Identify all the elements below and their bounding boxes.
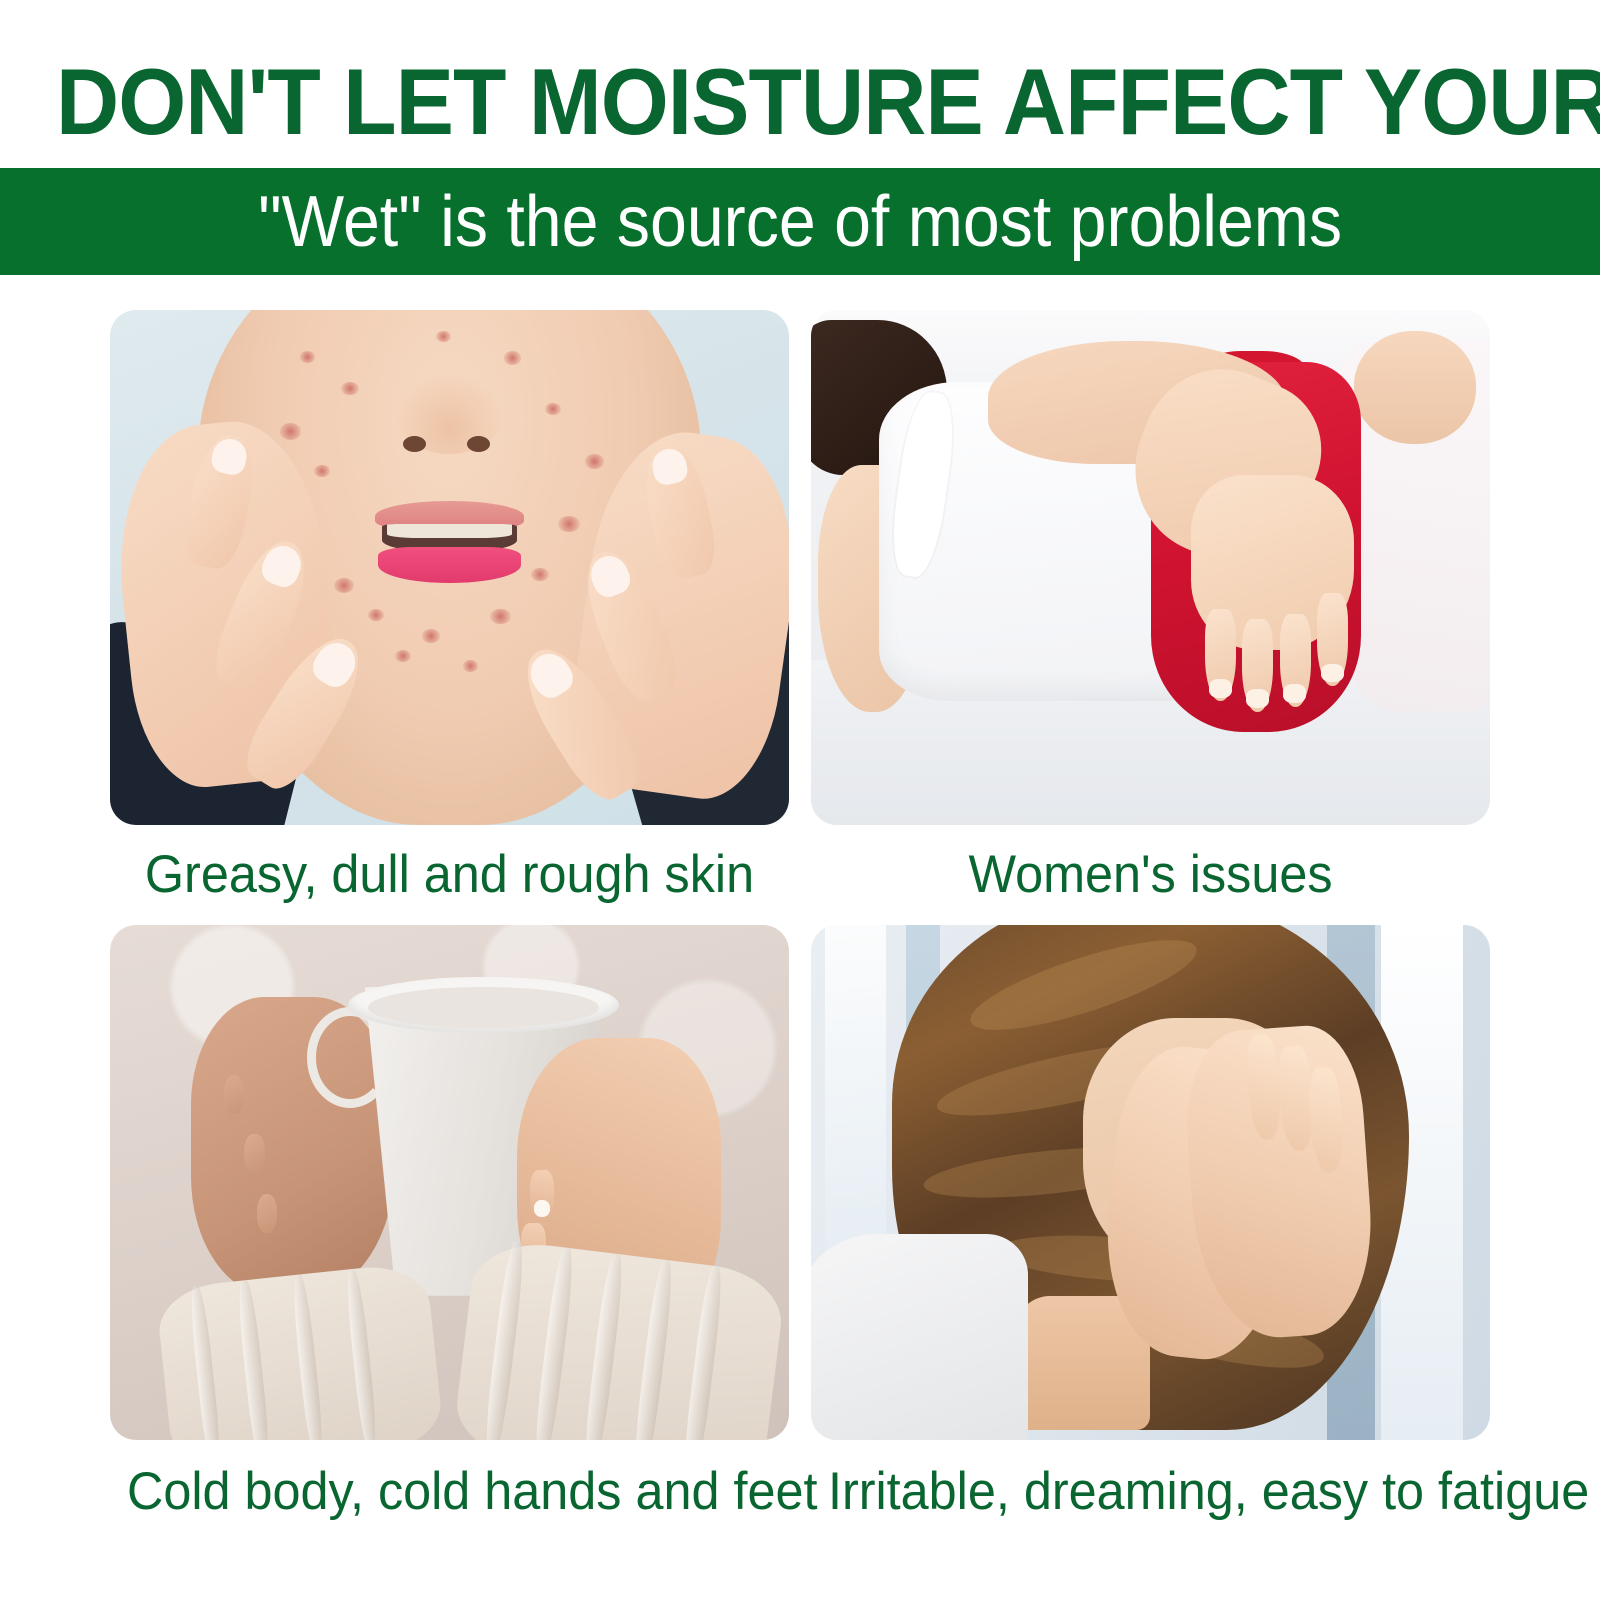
subtitle-banner: "Wet" is the source of most problems <box>0 168 1600 275</box>
symptom-grid: Greasy, dull and rough skin <box>110 310 1490 1522</box>
symptom-caption: Cold body, cold hands and feet <box>127 1440 772 1522</box>
photo-acne-spot <box>531 568 549 581</box>
distressed-woman-photo <box>811 925 1490 1440</box>
symptom-card-cold-body[interactable]: Cold body, cold hands and feet <box>110 925 789 1522</box>
photo-acne-spot <box>504 351 522 364</box>
symptom-card-greasy-skin[interactable]: Greasy, dull and rough skin <box>110 310 789 905</box>
page-headline: DON'T LET MOISTURE AFFECT YOUR LIFE <box>56 52 1544 152</box>
photo-knuckle <box>244 1134 264 1173</box>
photo-fingernail <box>1209 679 1232 698</box>
photo-finger <box>1244 1034 1283 1141</box>
hands-with-mug-photo <box>110 925 789 1440</box>
banner-text: "Wet" is the source of most problems <box>258 184 1342 260</box>
photo-finger <box>1280 614 1311 707</box>
photo-acne-spot <box>436 331 451 342</box>
photo-knuckle <box>257 1194 277 1233</box>
photo-fingernail <box>1283 684 1306 703</box>
photo-leg <box>1354 331 1476 444</box>
photo-teeth <box>387 524 512 539</box>
photo-fingernail <box>209 435 250 476</box>
photo-finger <box>1307 1067 1346 1174</box>
grid-row: Greasy, dull and rough skin <box>110 310 1490 905</box>
symptom-caption: Women's issues <box>828 825 1473 905</box>
photo-lower-lip <box>378 547 521 583</box>
photo-finger <box>530 1170 554 1221</box>
photo-fingernail <box>1321 664 1344 683</box>
photo-acne-spot <box>280 423 302 439</box>
photo-sweater-sleeve-left <box>155 1262 444 1440</box>
photo-acne-spot <box>314 465 330 477</box>
photo-shirt <box>811 1234 1028 1440</box>
photo-acne-spot <box>490 609 510 624</box>
photo-finger <box>1205 609 1236 702</box>
grid-row: Cold body, cold hands and feet <box>110 925 1490 1522</box>
photo-knuckle <box>224 1075 244 1114</box>
hot-water-bottle-photo <box>811 310 1490 825</box>
symptom-card-womens-issues[interactable]: Women's issues <box>811 310 1490 905</box>
photo-fingernail <box>534 1200 551 1217</box>
photo-acne-spot <box>422 629 440 642</box>
symptom-caption: Irritable, dreaming, easy to fatigue <box>828 1440 1473 1522</box>
photo-acne-spot <box>341 382 359 395</box>
photo-acne-spot <box>585 454 604 468</box>
photo-finger <box>1242 619 1273 712</box>
photo-acne-spot <box>463 660 478 671</box>
photo-fingernail <box>1246 689 1269 708</box>
photo-mug-interior <box>368 987 599 1028</box>
photo-acne-spot <box>545 403 561 415</box>
acne-face-photo <box>110 310 789 825</box>
symptom-caption: Greasy, dull and rough skin <box>127 825 772 905</box>
photo-fingernail <box>649 446 690 487</box>
symptom-card-irritable[interactable]: Irritable, dreaming, easy to fatigue <box>811 925 1490 1522</box>
photo-finger <box>1317 593 1348 686</box>
photo-acne-spot <box>300 351 315 362</box>
